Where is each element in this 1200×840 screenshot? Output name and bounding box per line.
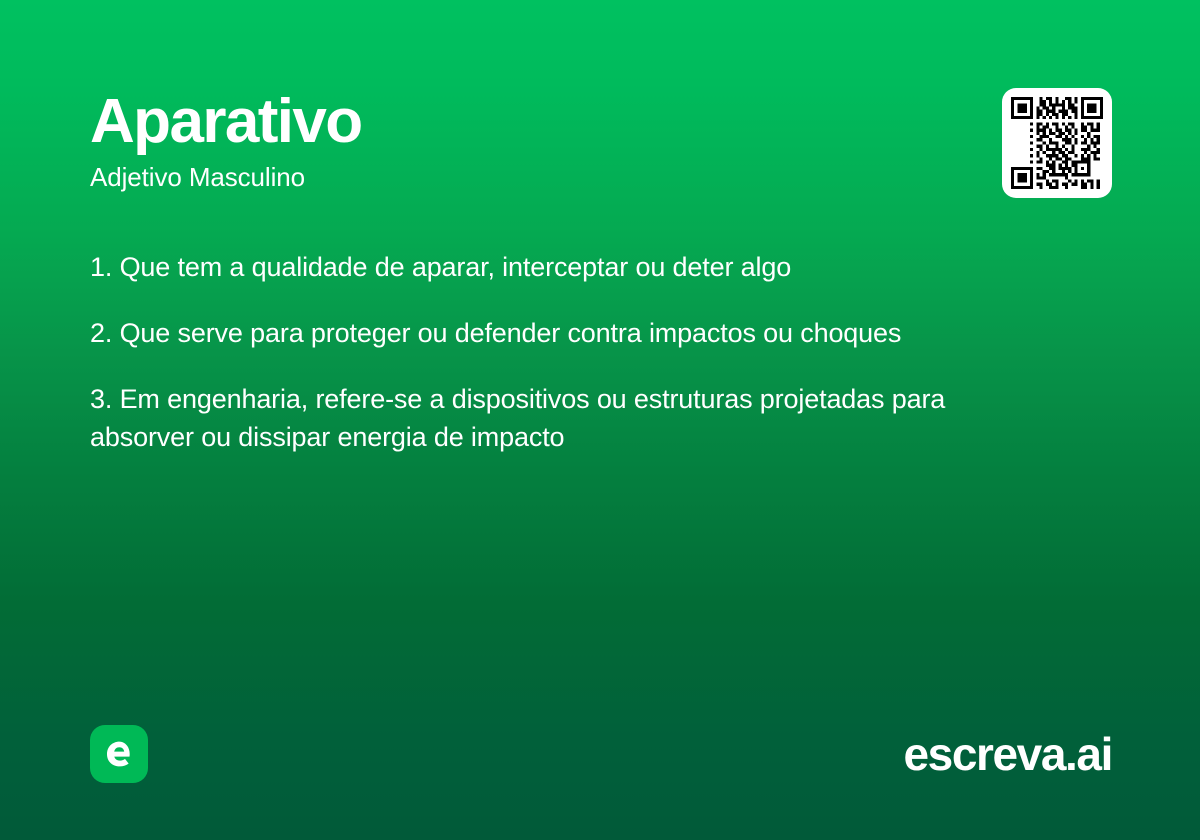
qr-code-panel[interactable] <box>1002 88 1112 198</box>
card-footer: escreva.ai <box>90 725 1112 783</box>
word-class-label: Adjetivo Masculino <box>90 163 362 192</box>
definition-item: 2. Que serve para proteger ou defender c… <box>90 314 1040 352</box>
card-header: Aparativo Adjetivo Masculino <box>90 88 1112 198</box>
definition-item: 3. Em engenharia, refere-se a dispositiv… <box>90 380 1040 456</box>
definition-card: Aparativo Adjetivo Masculino <box>0 0 1200 840</box>
page-title: Aparativo <box>90 90 362 153</box>
brand-wordmark: escreva.ai <box>903 731 1112 777</box>
definitions-list: 1. Que tem a qualidade de aparar, interc… <box>90 248 1040 456</box>
qr-code-icon <box>1011 97 1103 189</box>
definition-item: 1. Que tem a qualidade de aparar, interc… <box>90 248 1040 286</box>
headings-group: Aparativo Adjetivo Masculino <box>90 88 362 192</box>
escreva-e-logo-icon <box>90 725 148 783</box>
